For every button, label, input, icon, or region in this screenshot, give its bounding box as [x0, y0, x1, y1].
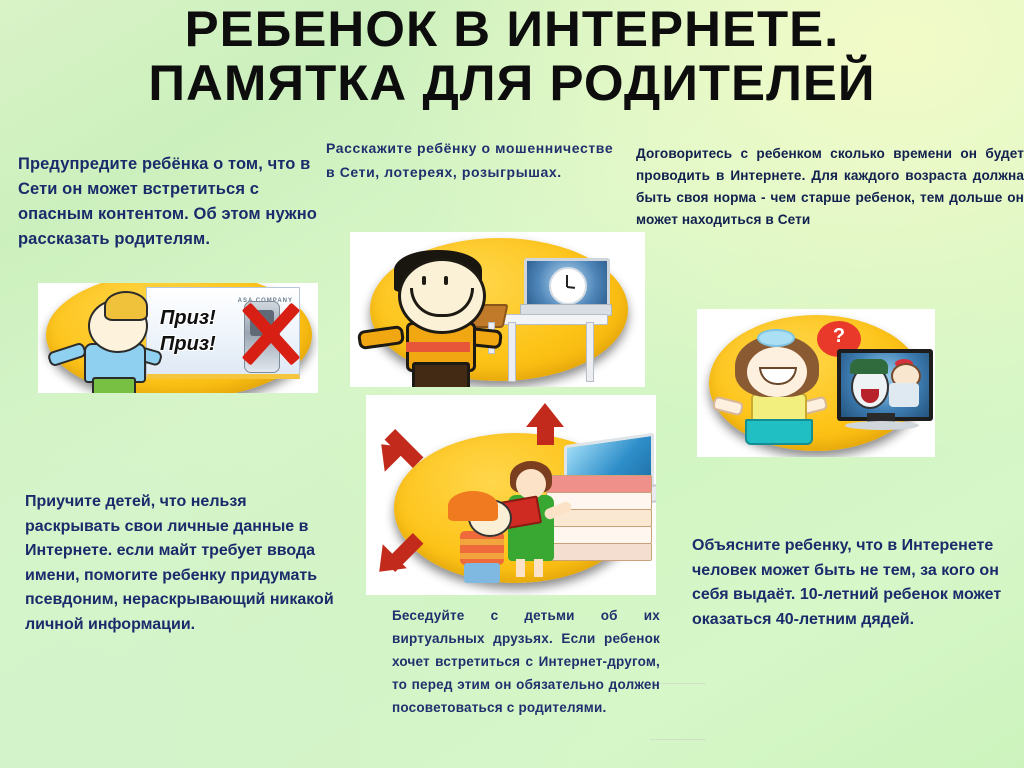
- book-item: [546, 543, 652, 561]
- boy-hair: [104, 291, 148, 321]
- tip-text-virtual-friends: Беседуйте с детьми об их виртуальных дру…: [392, 604, 660, 719]
- boy-eye: [422, 276, 426, 285]
- girl-hair-bow: [757, 329, 795, 347]
- child-avatar-body: [889, 383, 919, 407]
- child-pants: [464, 563, 500, 583]
- girl-figure: [731, 331, 827, 447]
- child-shirt: [460, 531, 504, 565]
- clock-icon: [549, 267, 587, 305]
- laptop-figure: [524, 258, 608, 316]
- desk-leg: [508, 322, 516, 382]
- boy-pants: [412, 362, 470, 387]
- boy-shorts: [92, 377, 136, 393]
- red-cross-icon: [234, 297, 308, 371]
- mother-face: [516, 469, 546, 499]
- illustration-screen-time: [350, 232, 645, 387]
- book-stack: [546, 475, 656, 567]
- book-item: [546, 526, 652, 544]
- child-cap: [448, 491, 498, 521]
- stranger-cap: [850, 359, 888, 374]
- desk-figure: [500, 262, 610, 380]
- title-line-1: РЕБЕНОК В ИНТЕРНЕТЕ.: [0, 2, 1024, 56]
- scan-artifact-line: [650, 739, 706, 740]
- mother-leg: [534, 559, 543, 577]
- tip-text-fake-identity: Объясните ребенку, что в Интеренете чело…: [692, 534, 1014, 632]
- boy-figure: [384, 250, 504, 380]
- title-line-2: ПАМЯТКА ДЛЯ РОДИТЕЛЕЙ: [0, 56, 1024, 110]
- boy-left-arm: [357, 325, 405, 350]
- book-item: [546, 475, 652, 493]
- boy-shirt-stripe: [406, 342, 470, 352]
- monitor-figure: [837, 349, 929, 431]
- child-avatar-figure: [889, 363, 919, 407]
- girl-skirt: [745, 419, 813, 445]
- arrow-up-icon: [526, 403, 564, 427]
- girl-left-arm: [712, 396, 744, 417]
- prize-label-1: Приз!: [160, 307, 216, 330]
- monitor-screen: [837, 349, 933, 421]
- tip-text-screen-time: Договоритесь с ребенком сколько времени …: [636, 143, 1024, 231]
- question-mark-icon: ?: [817, 325, 861, 348]
- stranger-mouth: [861, 389, 879, 403]
- arrow-up-stem: [537, 425, 554, 445]
- monitor-foot: [845, 421, 919, 430]
- tip-text-dangerous-content: Предупредите ребёнка о том, что в Сети о…: [18, 152, 336, 252]
- stranger-mask-icon: [851, 365, 889, 409]
- tip-text-personal-data: Приучите детей, что нельзя раскрывать св…: [25, 490, 345, 637]
- desk-leg: [586, 322, 594, 382]
- poster-canvas: РЕБЕНОК В ИНТЕРНЕТЕ. ПАМЯТКА ДЛЯ РОДИТЕЛ…: [0, 0, 1024, 768]
- prize-label-2: Приз!: [160, 333, 216, 356]
- boy-eye: [444, 276, 448, 285]
- page-title: РЕБЕНОК В ИНТЕРНЕТЕ. ПАМЯТКА ДЛЯ РОДИТЕЛ…: [0, 2, 1024, 110]
- illustration-parents-advice: [366, 395, 656, 595]
- boy-figure: [74, 297, 156, 393]
- illustration-fake-identity: ?: [697, 309, 935, 457]
- child-figure: [448, 491, 512, 583]
- illustration-prize-scam: ASA COMPANY Приз! Приз!: [38, 283, 318, 393]
- mother-leg: [516, 559, 525, 577]
- tip-text-fraud-lotteries: Расскажите ребёнку о мошенничестве в Сет…: [326, 136, 626, 184]
